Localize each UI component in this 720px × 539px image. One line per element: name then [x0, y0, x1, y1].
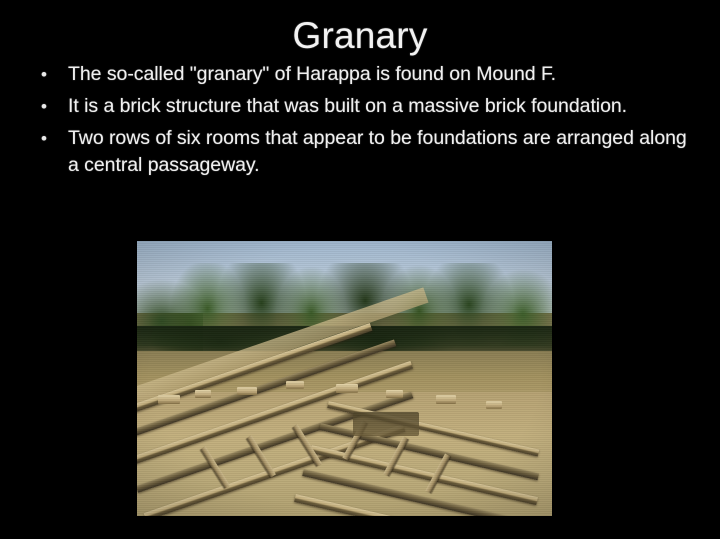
harappa-granary-excavation-photo: [137, 241, 552, 516]
bullet-text: It is a brick structure that was built o…: [68, 95, 627, 117]
bullet-text: The so-called "granary" of Harappa is fo…: [68, 63, 556, 85]
list-item: • Two rows of six rooms that appear to b…: [36, 125, 700, 179]
bullet-marker-icon: •: [41, 125, 47, 152]
bullet-list: • The so-called "granary" of Harappa is …: [36, 61, 700, 184]
bullet-marker-icon: •: [41, 93, 47, 120]
page-title: Granary: [0, 14, 720, 58]
list-item: • The so-called "granary" of Harappa is …: [36, 61, 700, 88]
list-item: • It is a brick structure that was built…: [36, 93, 700, 120]
bullet-text: Two rows of six rooms that appear to be …: [68, 127, 687, 176]
photo-grain-overlay: [137, 241, 552, 516]
presentation-slide: Granary • The so-called "granary" of Har…: [0, 0, 720, 539]
bullet-marker-icon: •: [41, 61, 47, 88]
